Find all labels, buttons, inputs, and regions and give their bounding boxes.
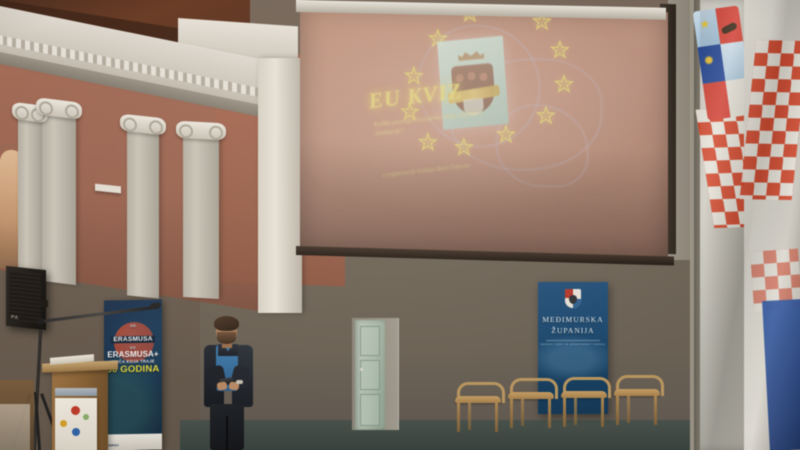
pilaster-5 — [258, 58, 302, 313]
chair-leg — [574, 397, 577, 425]
podium-blue-strip — [55, 388, 97, 396]
pilaster-4 — [183, 127, 219, 299]
door-panel — [360, 394, 380, 426]
chair-leg — [616, 395, 619, 425]
pilaster-3 — [127, 120, 159, 298]
leg-separation — [226, 416, 228, 450]
door[interactable] — [355, 320, 385, 430]
banner-title-line-2: ŽUPANIJA — [538, 325, 608, 336]
door-knob[interactable] — [360, 368, 363, 371]
poster-dot — [71, 406, 80, 415]
chair-leg — [510, 398, 513, 428]
poster-dot — [72, 428, 80, 436]
beard — [217, 332, 236, 344]
chair-leg — [457, 402, 460, 432]
screenshot-root: ★ ★ ★ ★ ★ ★ ★ ★ ★ ★ ★ ★ EU KVIZ Koliko p… — [0, 0, 800, 450]
door-panel — [360, 360, 380, 390]
erasmus-line-2: ERASMUSA — [111, 336, 154, 344]
hair — [214, 316, 239, 331]
banner-divider — [546, 340, 600, 341]
banner-subtitle: Upravni odjel za obrazovanje i kulturu — [538, 342, 608, 346]
chair-leg — [468, 402, 471, 430]
banner-title-line-1: MEĐIMURSKA — [538, 314, 608, 325]
poster-dot — [60, 420, 67, 427]
wristwatch — [236, 380, 243, 384]
door-panel — [360, 326, 380, 356]
lion-icon: ✹ — [703, 53, 716, 67]
zupanija-crest-icon — [565, 289, 581, 308]
chair-leg — [495, 402, 498, 432]
erasmus-banner-footer: AMPEU — [104, 433, 162, 450]
microphone-joint[interactable] — [36, 317, 44, 325]
chair-leg — [548, 398, 551, 428]
presenter — [196, 318, 258, 450]
chair-leg — [601, 397, 604, 427]
chair-leg — [521, 398, 524, 426]
podium-poster — [55, 398, 97, 450]
speaker-bracket — [40, 300, 48, 308]
erasmus-rollup-banner: OD ERASMUSA DO ERASMUSA+ PRIČA KOJA TRAJ… — [104, 299, 162, 450]
screen-vignette — [300, 2, 668, 262]
speaker-logo: PA — [11, 314, 19, 321]
erasmus-footer-logo: AMPEU — [108, 443, 119, 447]
pilaster-2 — [42, 106, 76, 285]
table-cloth — [0, 404, 30, 450]
pilaster-1 — [18, 109, 42, 282]
poster-dot — [83, 414, 89, 420]
chair-leg — [654, 395, 657, 425]
banner-title: MEĐIMURSKA ŽUPANIJA — [538, 314, 608, 336]
chair-leg — [563, 397, 566, 427]
ionic-capital-4 — [176, 121, 226, 141]
star-icon: ★ — [699, 17, 711, 30]
chair-leg — [627, 395, 630, 423]
flag-blue-band — [762, 299, 800, 450]
